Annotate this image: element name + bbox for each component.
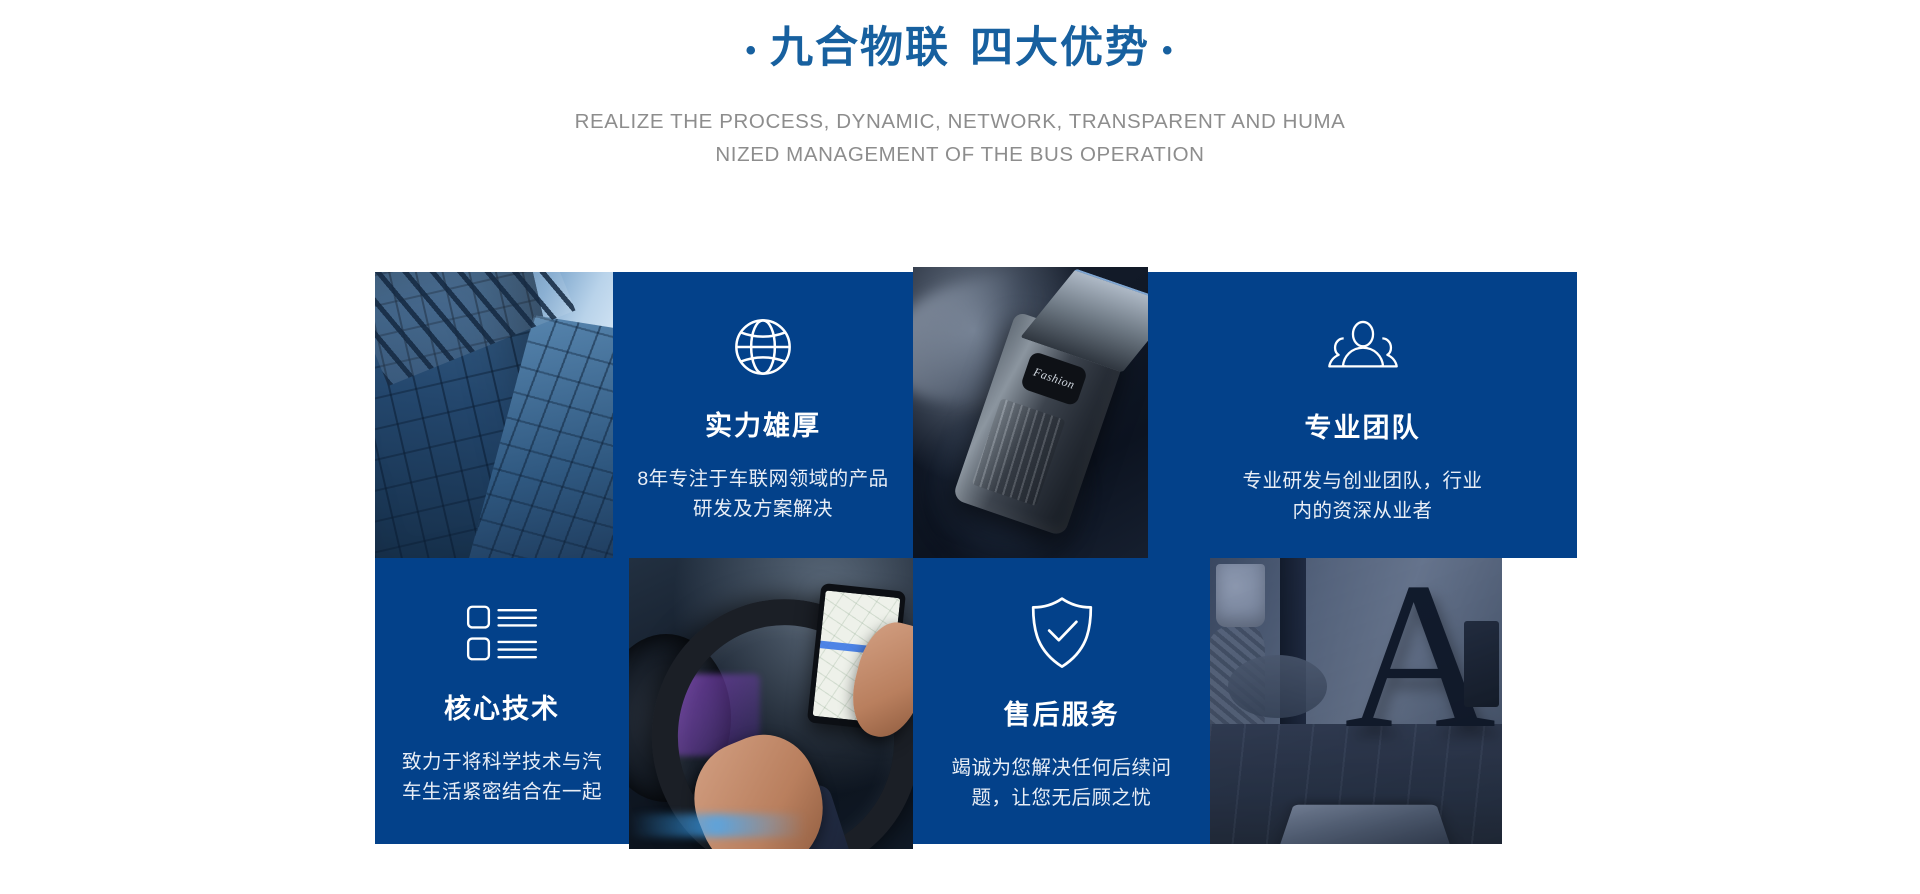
feature-card-team[interactable]: 专业团队 专业研发与创业团队，行业内的资深从业者 [1148, 272, 1577, 558]
grid-cell-glass-skyscraper-photo [375, 272, 613, 558]
page-subtitle: REALIZE THE PROCESS, DYNAMIC, NETWORK, T… [0, 106, 1920, 172]
driver-navigation-photo [629, 558, 913, 849]
title-part-1: 九合物联 [768, 24, 952, 72]
interior-letter-a-photo: A [1210, 558, 1502, 844]
shield-check-icon [1026, 593, 1098, 673]
device-grille [972, 398, 1066, 506]
feature-desc-after-sales-service: 竭诚为您解决任何后续问题，让您无后顾之忧 [936, 753, 1188, 813]
feature-desc-core-technology: 致力于将科学技术与汽车生活紧密结合在一起 [397, 747, 607, 807]
device-brand-label: Fashion [1032, 365, 1077, 393]
grid-cell-interior-letter-a-photo: A [1210, 558, 1502, 844]
feature-title-team: 专业团队 [1305, 412, 1421, 444]
feature-desc-strength: 8年专注于车联网领域的产品研发及方案解决 [637, 464, 889, 524]
device-brand-badge: Fashion [1020, 351, 1088, 408]
title-right-dot: • [1152, 34, 1185, 67]
feature-card-after-sales-service[interactable]: 售后服务 竭诚为您解决任何后续问题，让您无后顾之忧 [913, 558, 1210, 844]
people-group-icon [1320, 308, 1406, 386]
blue-tint-overlay [1210, 558, 1502, 844]
glass-skyscraper-photo [375, 272, 613, 558]
title-part-2: 四大优势 [968, 24, 1152, 72]
feature-title-after-sales-service: 售后服务 [1004, 699, 1120, 731]
grid-cell-car-device-photo: Fashion [913, 267, 1148, 558]
page-header: •九合物联四大优势• REALIZE THE PROCESS, DYNAMIC,… [0, 0, 1920, 171]
page-title: •九合物联四大优势• [0, 22, 1920, 76]
list-checklist-icon [464, 599, 540, 667]
title-left-dot: • [735, 34, 768, 67]
feature-desc-team: 专业研发与创业团队，行业内的资深从业者 [1237, 466, 1489, 526]
feature-card-core-technology[interactable]: 核心技术 致力于将科学技术与汽车生活紧密结合在一起 [375, 558, 629, 844]
feature-card-strength[interactable]: 实力雄厚 8年专注于车联网领域的产品研发及方案解决 [613, 272, 913, 558]
subtitle-line-1: REALIZE THE PROCESS, DYNAMIC, NETWORK, T… [0, 106, 1920, 139]
feature-title-strength: 实力雄厚 [705, 410, 821, 442]
feature-title-core-technology: 核心技术 [444, 693, 560, 725]
grid-cell-driver-navigation-photo [629, 558, 913, 849]
feature-grid: 实力雄厚 8年专注于车联网领域的产品研发及方案解决 Fashion [375, 272, 1577, 844]
globe-icon [726, 310, 800, 384]
car-device-photo: Fashion [913, 267, 1148, 558]
subtitle-line-2: NIZED MANAGEMENT OF THE BUS OPERATION [0, 139, 1920, 172]
ambient-light-strip [629, 814, 805, 837]
